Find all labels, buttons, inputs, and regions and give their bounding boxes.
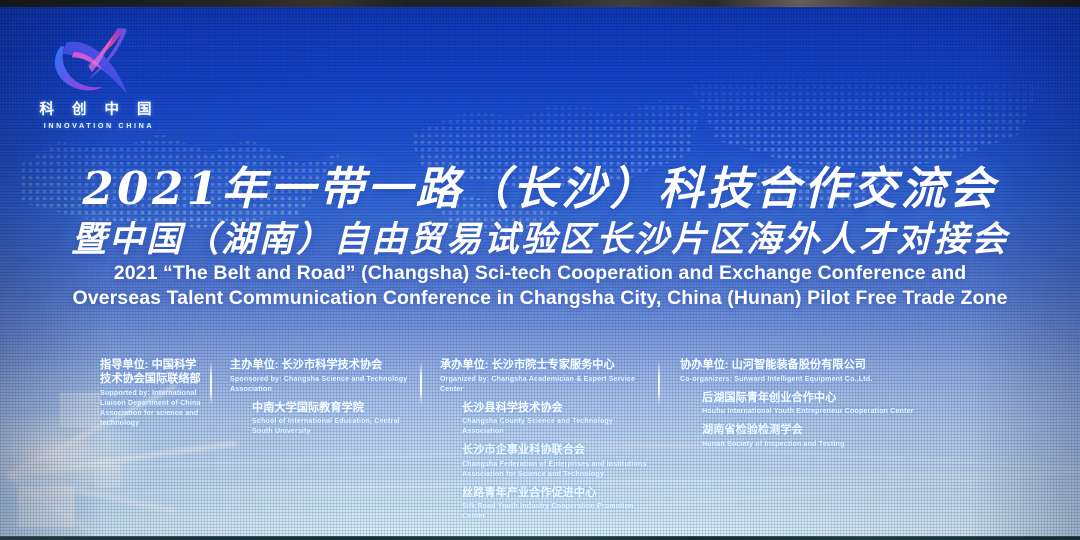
organizer-name-en: Changsha Federation of Enterprises and I… xyxy=(462,459,650,479)
organizer-columns: 指导单位: 中国科学技术协会国际联络部 Supported by: Intern… xyxy=(0,358,1080,518)
organizer-name-cn: 长沙市企事业科协联合会 xyxy=(462,443,650,457)
logo-label-en: INNOVATION CHINA xyxy=(26,121,172,130)
main-title-en-line2: Overseas Talent Communication Conference… xyxy=(0,287,1080,310)
organizer-name-cn: 后湖国际青年创业合作中心 xyxy=(702,391,950,405)
main-title-cn-line1: 2021年一带一路（长沙）科技合作交流会 xyxy=(0,152,1080,217)
organizer-name-en: Silk Road Youth Industry Cooperation Pro… xyxy=(462,501,650,521)
backdrop-content: 科 创 中 国 INNOVATION CHINA 2021年一带一路（长沙）科技… xyxy=(0,6,1080,537)
led-screen: 科 创 中 国 INNOVATION CHINA 2021年一带一路（长沙）科技… xyxy=(0,6,1080,537)
organizer-name-cn: 丝路青年产业合作促进中心 xyxy=(462,486,650,500)
organizer-column-co-organizers: 协办单位: 山河智能装备股份有限公司 Co-organizers: Sunwar… xyxy=(660,358,960,456)
organizer-column-organized-by: 承办单位: 长沙市院士专家服务中心 Organized by: Changsha… xyxy=(422,358,660,529)
organizer-name-en: Houhu International Youth Entrepreneur C… xyxy=(702,406,950,416)
organizer-name-cn: 指导单位: 中国科学技术协会国际联络部 xyxy=(100,358,202,386)
organizer-name-cn: 承办单位: 长沙市院士专家服务中心 xyxy=(440,358,650,372)
main-title-en-line1: 2021 “The Belt and Road” (Changsha) Sci-… xyxy=(0,262,1080,285)
innovation-china-logo: 科 创 中 国 INNOVATION CHINA xyxy=(22,26,172,130)
organizer-name-cn: 湖南省检验检测学会 xyxy=(702,423,950,437)
photo-top-edge xyxy=(0,0,1080,7)
organizer-name-cn: 主办单位: 长沙市科学技术协会 xyxy=(230,358,412,372)
innovation-china-x-mark xyxy=(46,26,138,98)
logo-label-cn: 科 创 中 国 xyxy=(26,103,172,119)
organizer-name-en: Organized by: Changsha Academician & Exp… xyxy=(440,374,650,394)
organizer-name-en: Sponsored by: Changsha Science and Techn… xyxy=(230,374,412,394)
main-title-cn-line2: 暨中国（湖南）自由贸易试验区长沙片区海外人才对接会 xyxy=(0,211,1080,262)
organizer-name-en: School of International Education, Centr… xyxy=(252,416,412,436)
organizer-name-cn: 长沙县科学技术协会 xyxy=(462,401,650,415)
stage-photo: 科 创 中 国 INNOVATION CHINA 2021年一带一路（长沙）科技… xyxy=(0,0,1080,540)
organizer-name-en: Hunan Society of Inspection and Testing xyxy=(702,439,950,449)
photo-bottom-edge xyxy=(0,536,1080,540)
organizer-column-guidance: 指导单位: 中国科学技术协会国际联络部 Supported by: Intern… xyxy=(0,358,212,435)
organizer-name-cn: 协办单位: 山河智能装备股份有限公司 xyxy=(680,358,950,372)
organizer-name-cn: 中南大学国际教育学院 xyxy=(252,401,412,415)
organizer-column-sponsor: 主办单位: 长沙市科学技术协会 Sponsored by: Changsha S… xyxy=(212,358,422,443)
organizer-name-en: Supported by: International Liaison Depa… xyxy=(100,388,202,428)
organizer-name-en: Changsha County Science and Technology A… xyxy=(462,416,650,436)
organizer-name-en: Co-organizers: Sunward Intelligent Equip… xyxy=(680,374,950,384)
